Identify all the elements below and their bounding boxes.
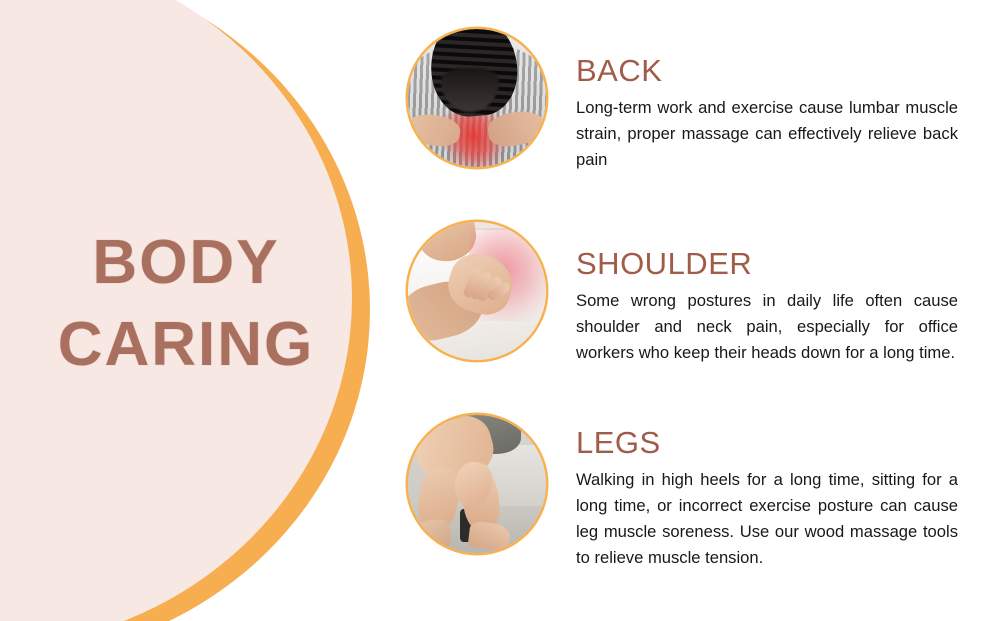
section-legs-heading: LEGS xyxy=(576,427,958,458)
section-shoulder: SHOULDER Some wrong postures in daily li… xyxy=(408,222,958,366)
photo-shoulder-pain xyxy=(408,222,546,360)
section-shoulder-text: SHOULDER Some wrong postures in daily li… xyxy=(576,222,958,366)
photo-back-pain xyxy=(408,29,546,167)
section-back-text: BACK Long-term work and exercise cause l… xyxy=(576,29,958,173)
section-back: BACK Long-term work and exercise cause l… xyxy=(408,29,958,173)
photo-leg-pain xyxy=(408,415,546,553)
section-back-heading: BACK xyxy=(576,55,958,86)
section-legs-text: LEGS Walking in high heels for a long ti… xyxy=(576,415,958,571)
sections-list: BACK Long-term work and exercise cause l… xyxy=(0,0,1000,621)
section-legs-body: Walking in high heels for a long time, s… xyxy=(576,467,958,571)
section-shoulder-body: Some wrong postures in daily life often … xyxy=(576,288,958,366)
body-caring-poster: BODY CARING BACK Long-term work and exer… xyxy=(0,0,1000,621)
section-legs: LEGS Walking in high heels for a long ti… xyxy=(408,415,958,571)
section-shoulder-heading: SHOULDER xyxy=(576,248,958,279)
section-back-body: Long-term work and exercise cause lumbar… xyxy=(576,95,958,173)
